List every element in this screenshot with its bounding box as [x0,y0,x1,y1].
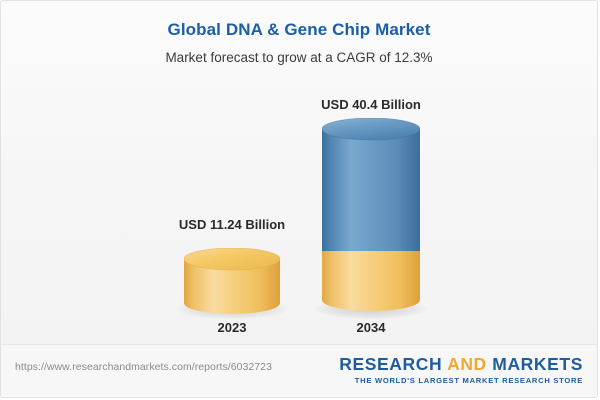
value-label-2034: USD 40.4 Billion [281,97,461,112]
category-label-2023: 2023 [182,320,282,335]
logo-word-research: RESEARCH [339,354,442,374]
bar-cylinder-2023[interactable] [184,248,280,314]
chart-card: Global DNA & Gene Chip Market Market for… [0,0,598,398]
logo-tagline: THE WORLD'S LARGEST MARKET RESEARCH STOR… [339,375,583,386]
logo-word-and: AND [447,354,487,374]
research-and-markets-logo[interactable]: RESEARCH AND MARKETS THE WORLD'S LARGEST… [339,354,583,386]
bar-cylinder-2034[interactable] [322,118,420,314]
logo-wordmark: RESEARCH AND MARKETS [339,354,583,374]
report-url[interactable]: https://www.researchandmarkets.com/repor… [15,361,272,373]
logo-word-markets: MARKETS [492,354,583,374]
category-label-2034: 2034 [321,320,421,335]
value-label-2023: USD 11.24 Billion [142,217,322,232]
chart-plot-area: USD 11.24 Billion 2023 [1,1,598,346]
chart-footer: https://www.researchandmarkets.com/repor… [1,344,597,397]
